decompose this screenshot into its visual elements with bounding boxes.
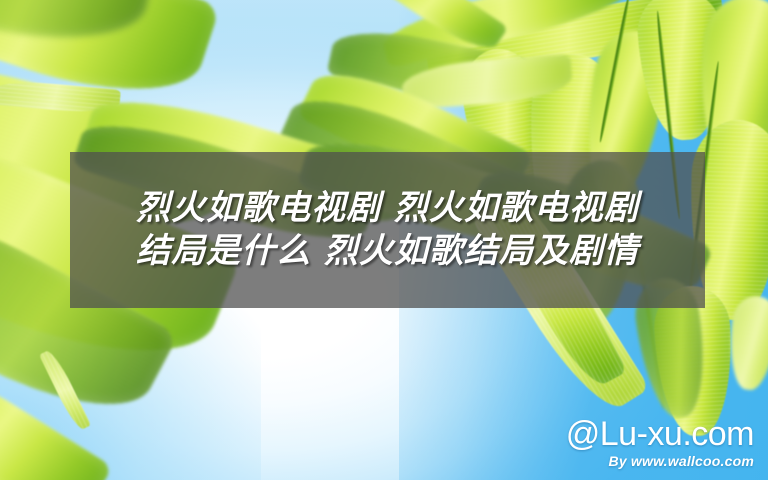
wallpaper-image: 烈火如歌电视剧 烈火如歌电视剧 结局是什么 烈火如歌结局及剧情 @Lu-xu.c… bbox=[0, 0, 768, 480]
watermark-site: @Lu-xu.com bbox=[566, 417, 754, 451]
watermark-credit: By www.wallcoo.com bbox=[566, 451, 754, 472]
watermark: @Lu-xu.com By www.wallcoo.com bbox=[566, 417, 754, 472]
title-line-2: 结局是什么 烈火如歌结局及剧情 bbox=[136, 232, 639, 271]
title-banner: 烈火如歌电视剧 烈火如歌电视剧 结局是什么 烈火如歌结局及剧情 bbox=[70, 152, 705, 308]
title-line-1: 烈火如歌电视剧 烈火如歌电视剧 bbox=[136, 189, 639, 228]
